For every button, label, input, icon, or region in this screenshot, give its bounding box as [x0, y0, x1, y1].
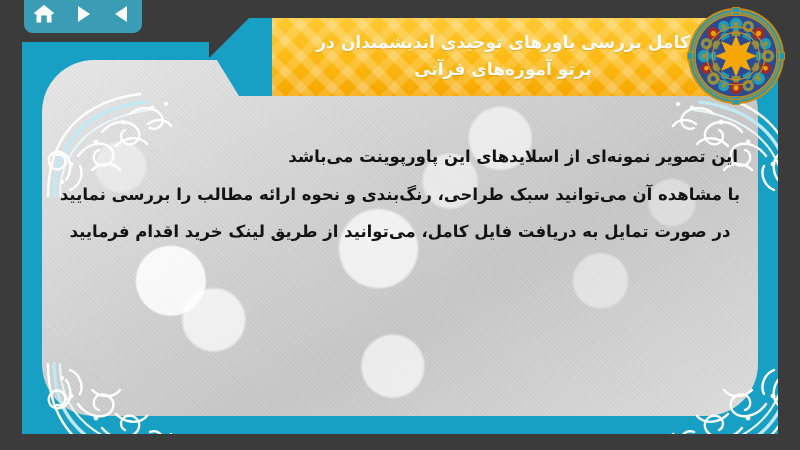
title-line-2: پرتو آموزه‌های قرآنی — [414, 58, 592, 84]
page-title: کامل بررسی باورهای توحیدی اندیشمندان در … — [272, 18, 734, 96]
body-line-1: این تصویر نمونه‌ای از اسلایدهای این پاور… — [40, 138, 760, 176]
triangle-right-icon — [73, 4, 93, 24]
islamic-medallion-icon — [686, 6, 786, 106]
prev-slide-button[interactable] — [109, 2, 135, 26]
slide-stage: کامل بررسی باورهای توحیدی اندیشمندان در … — [0, 0, 800, 450]
next-slide-button[interactable] — [70, 2, 96, 26]
body-line-2: با مشاهده آن می‌توانید سبک طراحی، رنگ‌بن… — [40, 176, 760, 214]
title-line-1: کامل بررسی باورهای توحیدی اندیشمندان در — [316, 31, 689, 57]
body-line-3: در صورت تمایل به دریافت فایل کامل، می‌تو… — [40, 213, 760, 251]
home-icon — [33, 4, 55, 24]
slide-navigation-bar — [24, 0, 142, 33]
banner-body: کامل بررسی باورهای توحیدی اندیشمندان در … — [272, 18, 734, 96]
triangle-left-icon — [112, 4, 132, 24]
home-button[interactable] — [31, 2, 57, 26]
title-banner: کامل بررسی باورهای توحیدی اندیشمندان در … — [215, 18, 734, 96]
slide-body-text: این تصویر نمونه‌ای از اسلایدهای این پاور… — [40, 138, 760, 251]
